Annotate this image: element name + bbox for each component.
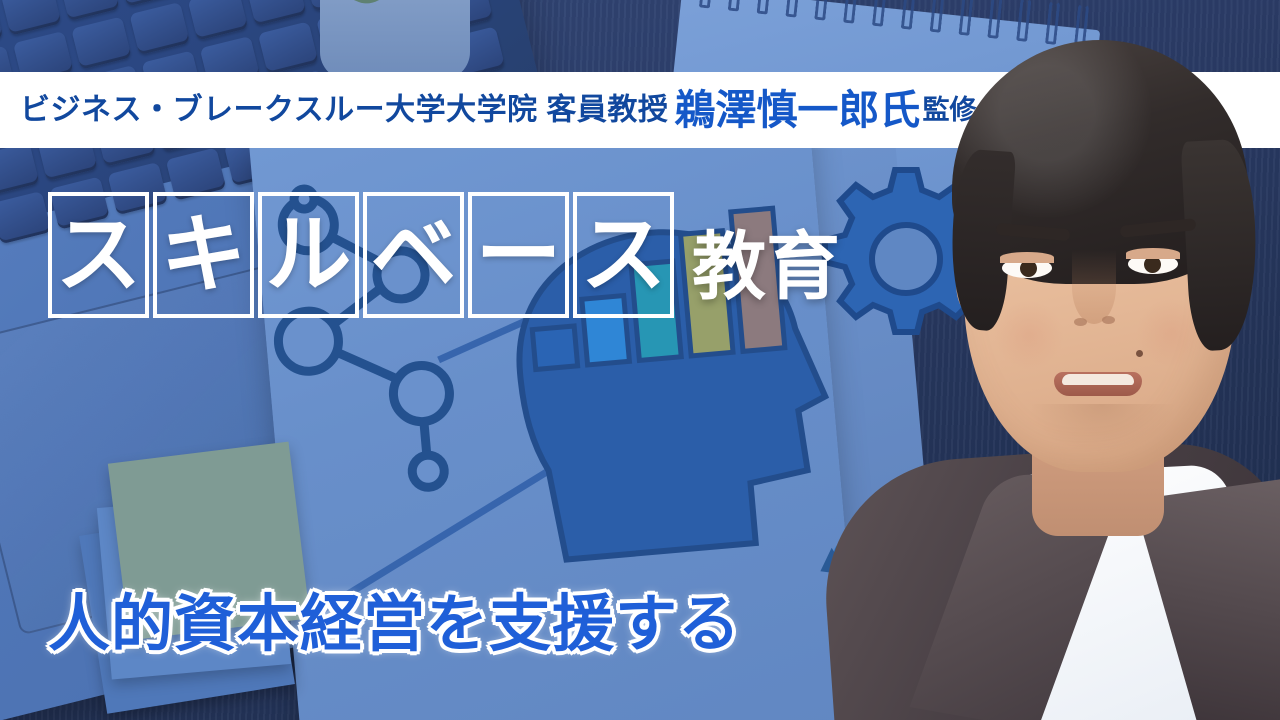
teeth bbox=[1062, 374, 1134, 385]
nostril-right bbox=[1102, 316, 1115, 324]
subtitle-line-1: 人的資本経営を支援する bbox=[48, 591, 741, 660]
facial-mole bbox=[1136, 350, 1143, 357]
hair-sideburn-right bbox=[1181, 138, 1262, 351]
plant-pot bbox=[320, 0, 470, 80]
eyelid-left bbox=[1000, 252, 1054, 263]
keyboard-key bbox=[129, 2, 190, 55]
chin-shadow bbox=[1028, 404, 1176, 454]
headline-char-box: キ bbox=[153, 192, 254, 318]
nostril-left bbox=[1074, 318, 1087, 326]
spiral-ring bbox=[728, 0, 744, 12]
keyboard-key bbox=[71, 16, 132, 69]
main-headline: ス キ ル ベ ー ス 教育 bbox=[48, 192, 840, 318]
headline-char-box: ー bbox=[468, 192, 569, 318]
spiral-ring bbox=[785, 0, 801, 18]
promotional-banner-image: ビジネス・ブレークスルー大学大学院 客員教授鵜澤慎一郎氏監修 ス キ ル ベ ー… bbox=[0, 0, 1280, 720]
nose bbox=[1072, 250, 1116, 324]
headline-trailing-text: 教育 bbox=[692, 230, 840, 304]
spiral-ring bbox=[699, 0, 715, 9]
banner-text-line: ビジネス・ブレークスルー大学大学院 客員教授鵜澤慎一郎氏監修 bbox=[20, 90, 976, 131]
headline-char-box: ス bbox=[48, 192, 149, 318]
spiral-ring bbox=[814, 0, 830, 21]
eyelid-right bbox=[1126, 248, 1180, 259]
keyboard-key bbox=[246, 0, 307, 26]
cheek-left bbox=[994, 300, 1064, 370]
keyboard-key bbox=[0, 0, 3, 50]
headline-char-box: ベ bbox=[363, 192, 464, 318]
keyboard-key bbox=[188, 0, 249, 41]
headline-char-box: ス bbox=[573, 192, 674, 318]
supervisor-portrait bbox=[836, 0, 1280, 720]
subtitle-block: 人的資本経営を支援する スキル可視化・ リスキリングモデル bbox=[48, 452, 741, 720]
banner-prefix-text: ビジネス・ブレークスルー大学大学院 客員教授 bbox=[20, 93, 668, 126]
keyboard-key bbox=[0, 142, 40, 195]
keyboard-key bbox=[1, 0, 62, 36]
spiral-ring bbox=[757, 0, 773, 15]
keyboard-key bbox=[258, 21, 319, 74]
headline-char-box: ル bbox=[258, 192, 359, 318]
